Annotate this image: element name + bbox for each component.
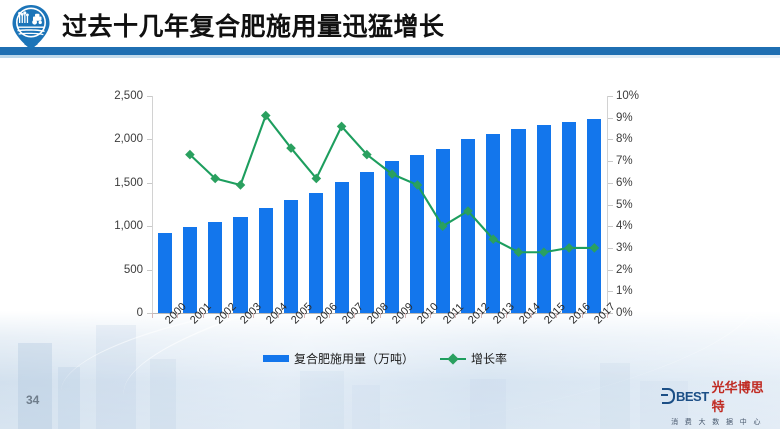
y-tick-label: 1,500 bbox=[114, 177, 143, 189]
y2-tick bbox=[608, 226, 613, 227]
brand-tagline: 消 费 大 数 据 中 心 bbox=[671, 417, 763, 427]
x-tick bbox=[430, 313, 431, 318]
y2-tick-label: 8% bbox=[616, 133, 633, 145]
y2-tick bbox=[608, 205, 613, 206]
y2-tick bbox=[608, 161, 613, 162]
legend-item-line: 增长率 bbox=[440, 350, 507, 367]
legend-bar-swatch bbox=[263, 355, 289, 362]
y2-tick-label: 10% bbox=[616, 90, 639, 102]
brand-mark-text: BEST bbox=[676, 389, 709, 404]
plot-area: 05001,0001,5002,0002,500 0%1%2%3%4%5%6%7… bbox=[152, 96, 607, 313]
x-tick bbox=[556, 313, 557, 318]
x-tick bbox=[152, 313, 153, 318]
y2-tick-label: 7% bbox=[616, 155, 633, 167]
line-marker bbox=[564, 243, 574, 253]
x-tick bbox=[455, 313, 456, 318]
x-tick bbox=[278, 313, 279, 318]
legend-label-bars: 复合肥施用量（万吨） bbox=[294, 350, 414, 367]
growth-line bbox=[190, 116, 594, 253]
x-tick bbox=[607, 313, 608, 318]
legend-line-swatch bbox=[440, 354, 466, 364]
y2-tick bbox=[608, 183, 613, 184]
x-tick bbox=[203, 313, 204, 318]
brand-mark: BEST bbox=[662, 388, 709, 404]
y-tick-label: 2,000 bbox=[114, 133, 143, 145]
brand-name: 光华博思特 bbox=[712, 377, 772, 415]
x-tick bbox=[177, 313, 178, 318]
y-tick-label: 2,500 bbox=[114, 90, 143, 102]
x-tick bbox=[481, 313, 482, 318]
x-tick bbox=[253, 313, 254, 318]
x-tick bbox=[531, 313, 532, 318]
x-tick bbox=[228, 313, 229, 318]
y2-tick-label: 2% bbox=[616, 264, 633, 276]
y2-tick-label: 9% bbox=[616, 112, 633, 124]
y2-tick bbox=[608, 139, 613, 140]
y2-tick-label: 0% bbox=[616, 307, 633, 319]
legend-item-bars: 复合肥施用量（万吨） bbox=[263, 350, 414, 367]
x-tick bbox=[380, 313, 381, 318]
line-marker bbox=[539, 247, 549, 257]
brand-logo: BEST 光华博思特 消 费 大 数 据 中 心 bbox=[662, 385, 772, 419]
y2-tick bbox=[608, 291, 613, 292]
page-title: 过去十几年复合肥施用量迅猛增长 bbox=[62, 7, 445, 43]
y2-tick-label: 3% bbox=[616, 242, 633, 254]
header-rule bbox=[0, 47, 780, 55]
x-tick bbox=[506, 313, 507, 318]
x-tick bbox=[405, 313, 406, 318]
slide-header: 过去十几年复合肥施用量迅猛增长 bbox=[0, 0, 780, 60]
line-marker bbox=[514, 247, 524, 257]
chart-legend: 复合肥施用量（万吨） 增长率 bbox=[96, 350, 674, 367]
y2-tick bbox=[608, 270, 613, 271]
y2-tick bbox=[608, 118, 613, 119]
brand-e-icon bbox=[662, 388, 675, 404]
line-marker bbox=[438, 221, 448, 231]
y2-tick-label: 6% bbox=[616, 177, 633, 189]
line-marker bbox=[413, 180, 423, 190]
farm-pin-icon bbox=[8, 4, 54, 50]
x-tick bbox=[329, 313, 330, 318]
y2-tick-label: 4% bbox=[616, 220, 633, 232]
x-tick bbox=[354, 313, 355, 318]
page-number: 34 bbox=[26, 393, 39, 407]
y2-tick bbox=[608, 96, 613, 97]
line-marker bbox=[236, 180, 246, 190]
chart: 05001,0001,5002,0002,500 0%1%2%3%4%5%6%7… bbox=[96, 78, 674, 383]
legend-label-line: 增长率 bbox=[471, 350, 507, 367]
x-tick bbox=[582, 313, 583, 318]
y2-tick-label: 5% bbox=[616, 199, 633, 211]
y2-tick bbox=[608, 248, 613, 249]
slide: 过去十几年复合肥施用量迅猛增长 05001,0001,5002,0002,500… bbox=[0, 0, 780, 429]
y-tick-label: 0 bbox=[137, 307, 143, 319]
line-marker bbox=[590, 243, 600, 253]
line-series bbox=[152, 96, 607, 313]
y-tick-label: 500 bbox=[124, 264, 143, 276]
y-tick-label: 1,000 bbox=[114, 220, 143, 232]
x-tick bbox=[304, 313, 305, 318]
y2-tick-label: 1% bbox=[616, 285, 633, 297]
